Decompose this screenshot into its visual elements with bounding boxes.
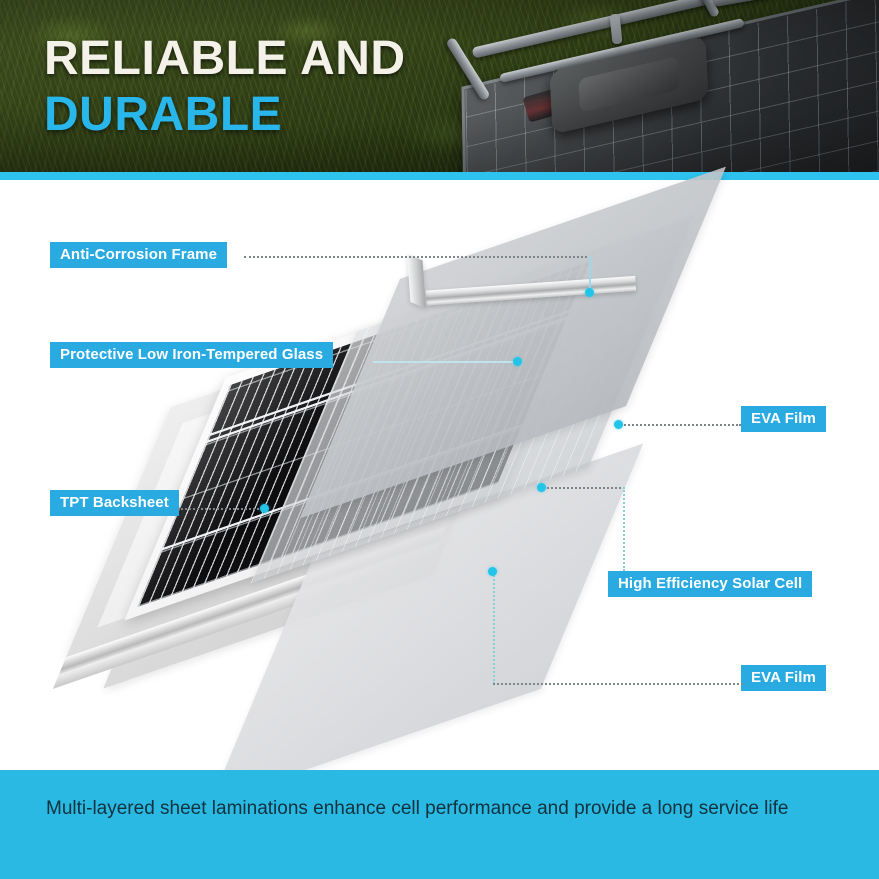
callout-dot-eva-film-top: [614, 420, 623, 429]
footer-caption-text: Multi-layered sheet laminations enhance …: [46, 794, 826, 823]
hero-title-line-1: RELIABLE AND: [44, 36, 406, 82]
leader-elbow-eva-film-bottom: [493, 572, 495, 684]
callout-eva-film-bottom[interactable]: EVA Film: [741, 665, 826, 691]
callout-dot-eva-film-bottom: [488, 567, 497, 576]
leader-line-anti-corrosion-frame: [244, 256, 591, 258]
leader-line-eva-film-bottom: [493, 683, 743, 685]
product-infographic: RELIABLE AND DURABLE: [0, 0, 879, 879]
leader-line-protective-glass: [373, 361, 518, 363]
callout-dot-solar-cell: [537, 483, 546, 492]
exploded-diagram: Anti-Corrosion Frame Protective Low Iron…: [0, 180, 879, 770]
hero-banner: RELIABLE AND DURABLE: [0, 0, 879, 172]
footer-caption-band: Multi-layered sheet laminations enhance …: [0, 770, 879, 879]
hero-title-line-2: DURABLE: [44, 92, 406, 138]
callout-dot-anti-corrosion-frame: [585, 288, 594, 297]
leader-line-tpt-backsheet: [178, 508, 263, 510]
cyan-divider: [0, 172, 879, 180]
leader-line-eva-film-top: [621, 424, 741, 426]
callout-tpt-backsheet[interactable]: TPT Backsheet: [50, 490, 179, 516]
leader-line-solar-cell: [543, 487, 625, 489]
callout-anti-corrosion-frame[interactable]: Anti-Corrosion Frame: [50, 242, 227, 268]
callout-dot-protective-glass: [513, 357, 522, 366]
callout-dot-tpt-backsheet: [260, 504, 269, 513]
callout-eva-film-top[interactable]: EVA Film: [741, 406, 826, 432]
callout-protective-glass[interactable]: Protective Low Iron-Tempered Glass: [50, 342, 333, 368]
leader-elbow-anti-corrosion-frame: [589, 256, 591, 292]
leader-elbow-solar-cell: [623, 487, 625, 571]
callout-solar-cell[interactable]: High Efficiency Solar Cell: [608, 571, 812, 597]
hero-title: RELIABLE AND DURABLE: [44, 36, 406, 138]
frame-extrusion-corner: [407, 254, 426, 308]
